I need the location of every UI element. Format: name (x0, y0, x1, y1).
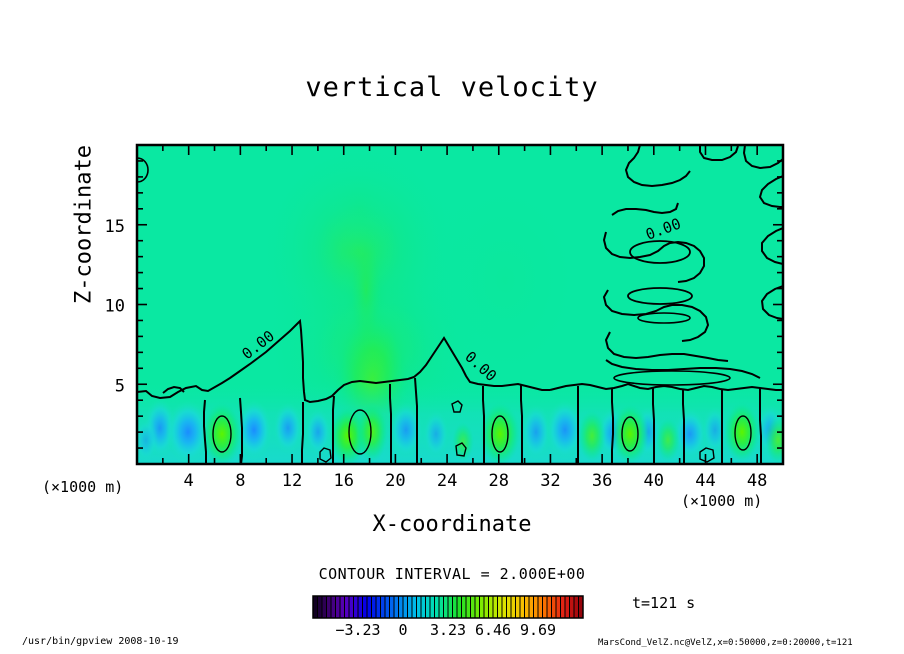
colorbar-segment (367, 596, 372, 618)
colorbar-segment (399, 596, 404, 618)
colorbar-segment (457, 596, 462, 618)
x-tick-label: 44 (695, 471, 715, 491)
colorbar-segment (412, 596, 417, 618)
contour-plot: 0.00 0.00 0.00 4812162024283236404448510… (0, 0, 904, 654)
colorbar-segment (561, 596, 566, 618)
colorbar-segment (489, 596, 494, 618)
colorbar-segment (565, 596, 570, 618)
colorbar-segment (525, 596, 530, 618)
colorbar-segment (372, 596, 377, 618)
colorbar-segment (574, 596, 579, 618)
x-tick-label: 28 (489, 471, 509, 491)
colorbar-segment (340, 596, 345, 618)
colorbar-segment (502, 596, 507, 618)
colorbar-tick-labels: −3.2303.236.469.69 (335, 621, 556, 639)
colorbar-segment (475, 596, 480, 618)
colorbar-tick-label: 3.23 (430, 621, 466, 639)
colorbar-segment (381, 596, 386, 618)
colorbar-tick-label: 0 (398, 621, 407, 639)
colorbar-segment (543, 596, 548, 618)
colorbar-segment (345, 596, 350, 618)
colorbar-segment (385, 596, 390, 618)
plume-top (326, 165, 394, 255)
y-tick-label: 10 (105, 297, 125, 317)
colorbar-segment (520, 596, 525, 618)
colorbar-segment (336, 596, 341, 618)
x-tick-label: 32 (540, 471, 560, 491)
field-raster: 0.00 0.00 0.00 (134, 140, 791, 466)
colorbar-segment (462, 596, 467, 618)
colorbar-segment (484, 596, 489, 618)
colorbar-segment (534, 596, 539, 618)
colorbar-segment (435, 596, 440, 618)
colorbar-segment (444, 596, 449, 618)
x-tick-label: 24 (437, 471, 457, 491)
colorbar-segment (426, 596, 431, 618)
colorbar-tick-label: 6.46 (475, 621, 511, 639)
colorbar-segment (358, 596, 363, 618)
x-tick-label: 12 (282, 471, 302, 491)
right-halo (415, 160, 595, 400)
colorbar-segment (363, 596, 368, 618)
colorbar-segment (471, 596, 476, 618)
colorbar-segment (390, 596, 395, 618)
colorbar-segment (570, 596, 575, 618)
colorbar-segment (322, 596, 327, 618)
colorbar-segment (327, 596, 332, 618)
colorbar: −3.2303.236.469.69 (313, 596, 583, 639)
x-tick-label: 20 (385, 471, 405, 491)
colorbar-segment (466, 596, 471, 618)
y-tick-label: 5 (115, 376, 125, 396)
colorbar-segment (354, 596, 359, 618)
colorbar-segment (448, 596, 453, 618)
colorbar-segment (439, 596, 444, 618)
colorbar-segment (507, 596, 512, 618)
colorbar-segment (421, 596, 426, 618)
colorbar-tick-label: 9.69 (520, 621, 556, 639)
colorbar-segment (453, 596, 458, 618)
colorbar-segments (313, 596, 583, 618)
colorbar-segment (394, 596, 399, 618)
colorbar-segment (408, 596, 413, 618)
x-tick-label: 48 (747, 471, 767, 491)
x-tick-label: 40 (644, 471, 664, 491)
colorbar-segment (318, 596, 323, 618)
colorbar-segment (547, 596, 552, 618)
colorbar-segment (511, 596, 516, 618)
x-tick-label: 8 (235, 471, 245, 491)
colorbar-segment (417, 596, 422, 618)
colorbar-segment (480, 596, 485, 618)
figure-canvas: vertical velocity Z-coordinate X-coordin… (0, 0, 904, 654)
colorbar-segment (556, 596, 561, 618)
colorbar-segment (552, 596, 557, 618)
colorbar-segment (493, 596, 498, 618)
colorbar-segment (376, 596, 381, 618)
y-tick-label: 15 (105, 217, 125, 237)
colorbar-segment (331, 596, 336, 618)
colorbar-segment (516, 596, 521, 618)
colorbar-segment (349, 596, 354, 618)
colorbar-tick-label: −3.23 (335, 621, 380, 639)
x-tick-label: 16 (333, 471, 353, 491)
x-tick-label: 36 (592, 471, 612, 491)
colorbar-segment (498, 596, 503, 618)
x-tick-label: 4 (184, 471, 194, 491)
colorbar-segment (403, 596, 408, 618)
colorbar-segment (538, 596, 543, 618)
colorbar-segment (430, 596, 435, 618)
colorbar-segment (529, 596, 534, 618)
